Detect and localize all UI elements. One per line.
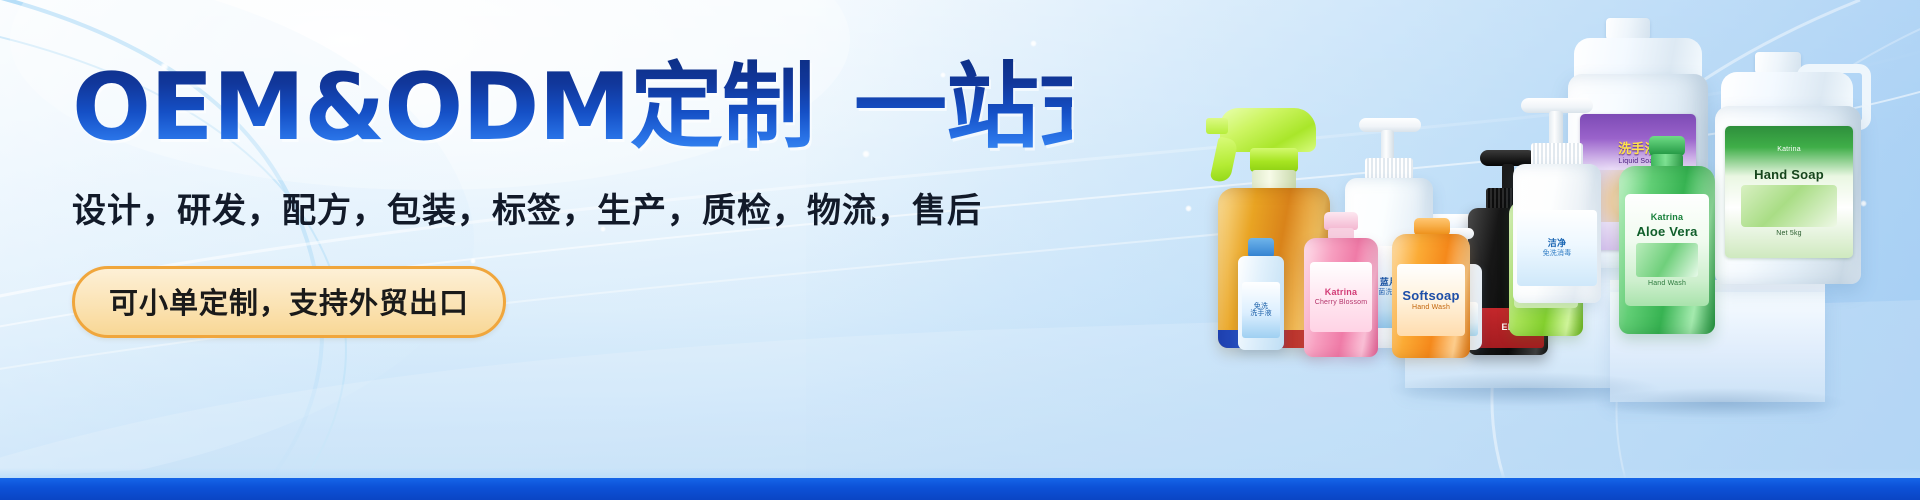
- orange-brand: Softsoap: [1402, 289, 1459, 303]
- blue-small-label-l1: 免洗: [1254, 303, 1268, 310]
- spray-collar: [1250, 148, 1298, 172]
- jerrycan2-title: Hand Soap: [1754, 168, 1824, 182]
- product-green-aloe-vera-bottle: Katrina Aloe Vera Hand Wash: [1615, 136, 1719, 334]
- jerrycan2-net: Net 5kg: [1776, 230, 1802, 237]
- product-white-pump-bottle: 洁净 免洗消毒: [1505, 98, 1609, 303]
- pink-brand: Katrina: [1325, 288, 1357, 297]
- aloe-label-art: [1636, 243, 1698, 277]
- product-orange-softsoap-bottle: Softsoap Hand Wash: [1388, 218, 1474, 358]
- product-green-label-jerrycan: Katrina Hand Soap Net 5kg: [1705, 52, 1880, 284]
- product-showcase: 洗手液 Liquid Soap Katrina Hand Soap Net 5k…: [1160, 0, 1920, 500]
- aloe-title: Aloe Vera: [1636, 225, 1697, 239]
- service-list: 设计，研发，配方，包装，标签，生产，质检，物流，售后: [72, 183, 1072, 232]
- blue-small-label-l2: 洗手液: [1250, 310, 1272, 317]
- sanitizer-pump-collar: [1365, 158, 1413, 180]
- banner-copy: OEM&ODM定制一站式服务 设计，研发，配方，包装，标签，生产，质检，物流，售…: [72, 58, 1072, 338]
- spray-nozzle: [1206, 118, 1228, 134]
- white-pump-stem: [1549, 111, 1563, 145]
- sparkle-8: [1030, 40, 1037, 47]
- pink-label: Katrina Cherry Blossom: [1310, 262, 1372, 332]
- aloe-label: Katrina Aloe Vera Hand Wash: [1625, 194, 1709, 306]
- spray-trigger: [1210, 136, 1239, 183]
- blue-small-label: 免洗 洗手液: [1242, 282, 1280, 338]
- pink-sub: Cherry Blossom: [1315, 299, 1368, 306]
- jerrycan2-green-label: Katrina Hand Soap Net 5kg: [1725, 126, 1853, 258]
- jerrycan2-cap: [1755, 52, 1801, 74]
- status-badge: 可小单定制，支持外贸出口: [72, 266, 506, 338]
- white-pump-brand: 洁净: [1548, 239, 1566, 248]
- jerrycan2-brand: Katrina: [1777, 146, 1801, 153]
- scene-shadow-2: [1596, 388, 1846, 418]
- product-pink-katrina-bottle: Katrina Cherry Blossom: [1300, 212, 1382, 357]
- white-pump-label: 洁净 免洗消毒: [1517, 210, 1597, 286]
- jerrycan2-label-art: [1741, 185, 1837, 227]
- aloe-cap: [1649, 136, 1685, 156]
- blue-small-cap: [1248, 238, 1274, 258]
- orange-label: Softsoap Hand Wash: [1397, 264, 1465, 336]
- sanitizer-pump-stem: [1381, 130, 1394, 160]
- aloe-brand: Katrina: [1651, 213, 1683, 222]
- page-title: OEM&ODM定制一站式服务: [72, 58, 1072, 157]
- headline-primary: OEM&ODM定制: [72, 53, 814, 161]
- bottom-bar-glow: [0, 468, 1920, 478]
- orange-sub: Hand Wash: [1412, 304, 1450, 311]
- jerrycan-cap: [1606, 18, 1650, 40]
- aloe-sub: Hand Wash: [1648, 280, 1686, 287]
- bottom-accent-bar: [0, 478, 1920, 500]
- promo-banner: OEM&ODM定制一站式服务 设计，研发，配方，包装，标签，生产，质检，物流，售…: [0, 0, 1920, 500]
- white-pump-sub: 免洗消毒: [1543, 250, 1572, 257]
- product-blue-small-bottle: 免洗 洗手液: [1232, 238, 1290, 350]
